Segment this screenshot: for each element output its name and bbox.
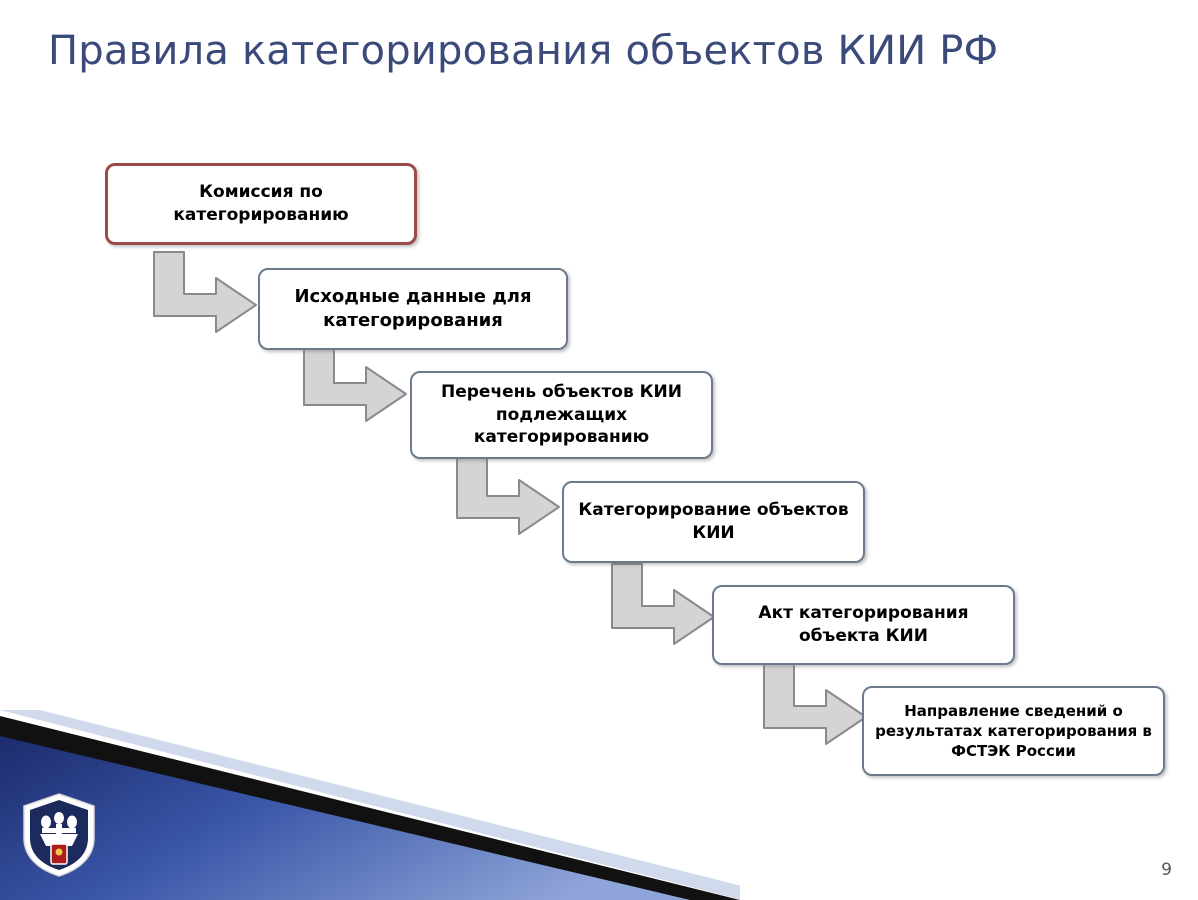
slide: Правила категорирования объектов КИИ РФ …: [0, 0, 1198, 900]
step-label-2: Исходные данные для категорирования: [260, 285, 566, 334]
arrow-step5-to-step6: [750, 660, 880, 755]
step-label-4: Категорирование объектов КИИ: [564, 499, 863, 545]
step-label-1: Комиссия по категорированию: [108, 181, 414, 227]
arrow-step2-to-step3: [290, 337, 420, 432]
arrow-step3-to-step4: [443, 450, 573, 545]
step-label-6: Направление сведений о результатах катег…: [864, 701, 1163, 762]
step-box-6[interactable]: Направление сведений о результатах катег…: [862, 686, 1165, 776]
step-box-1[interactable]: Комиссия по категорированию: [105, 163, 417, 245]
corner-decoration: [0, 710, 740, 900]
arrow-step1-to-step2: [140, 248, 270, 343]
page-number: 9: [1161, 860, 1172, 880]
step-box-5[interactable]: Акт категорирования объекта КИИ: [712, 585, 1015, 665]
arrow-step4-to-step5: [598, 560, 728, 655]
step-box-3[interactable]: Перечень объектов КИИ подлежащих категор…: [410, 371, 713, 459]
step-label-3: Перечень объектов КИИ подлежащих категор…: [412, 381, 711, 450]
step-box-2[interactable]: Исходные данные для категорирования: [258, 268, 568, 350]
fstec-emblem-icon: [20, 792, 98, 878]
step-label-5: Акт категорирования объекта КИИ: [714, 602, 1013, 648]
step-box-4[interactable]: Категорирование объектов КИИ: [562, 481, 865, 563]
page-title: Правила категорирования объектов КИИ РФ: [48, 28, 998, 74]
